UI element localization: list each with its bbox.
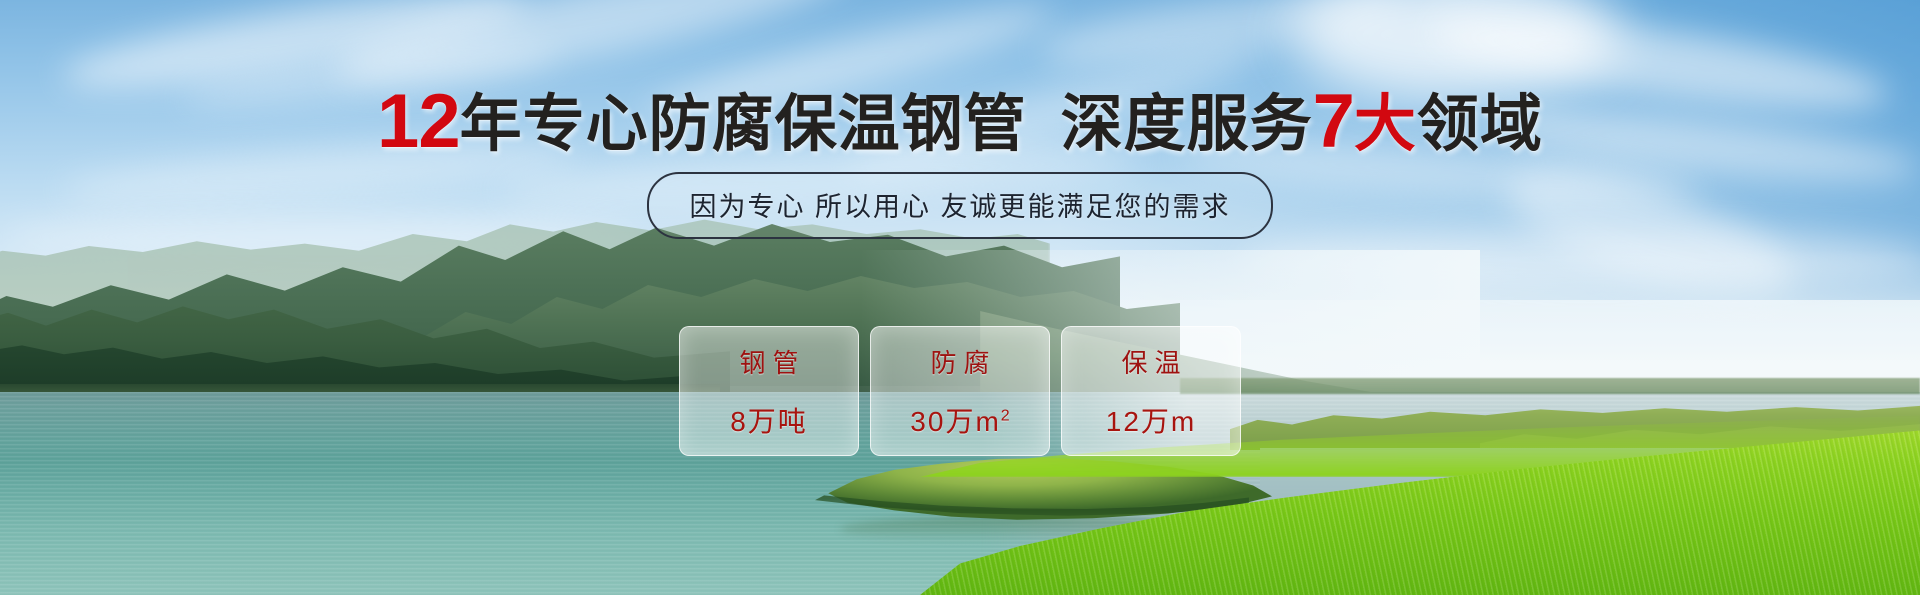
- promo-banner: 12年专心防腐保温钢管深度服务7大领域 因为专心 所以用心 友诚更能满足您的需求…: [0, 0, 1920, 595]
- stat-value-text: 30万m: [910, 406, 1000, 437]
- stats-row: 钢管 8万吨 防腐 30万m2 保温 12万m: [0, 326, 1920, 456]
- headline-fields-suffix: 领域: [1417, 90, 1543, 159]
- headline-years-number: 12: [377, 79, 460, 164]
- headline: 12年专心防腐保温钢管深度服务7大领域: [0, 84, 1920, 160]
- stat-label: 保温: [1114, 343, 1187, 380]
- stat-label: 防腐: [923, 343, 996, 380]
- stat-card-steel-pipe[interactable]: 钢管 8万吨: [679, 326, 859, 456]
- stat-value-superscript: 2: [1001, 407, 1010, 424]
- headline-fields-da: 大: [1354, 90, 1417, 159]
- headline-fields-number: 7: [1313, 79, 1354, 164]
- stat-value-text: 8万吨: [730, 406, 808, 437]
- stat-card-anticorrosion[interactable]: 防腐 30万m2: [870, 326, 1050, 456]
- headline-main-text: 年专心防腐保温钢管: [460, 90, 1027, 159]
- stat-label: 钢管: [732, 343, 805, 380]
- subtitle-pill: 因为专心 所以用心 友诚更能满足您的需求: [647, 172, 1272, 239]
- stat-card-insulation[interactable]: 保温 12万m: [1061, 326, 1241, 456]
- headline-service-text: 深度服务: [1061, 90, 1313, 159]
- stat-value: 30万m2: [910, 400, 1009, 440]
- stat-value: 12万m: [1106, 400, 1196, 440]
- stat-value-text: 12万m: [1106, 406, 1196, 437]
- stat-value: 8万吨: [730, 400, 808, 440]
- subtitle-container: 因为专心 所以用心 友诚更能满足您的需求: [0, 172, 1920, 239]
